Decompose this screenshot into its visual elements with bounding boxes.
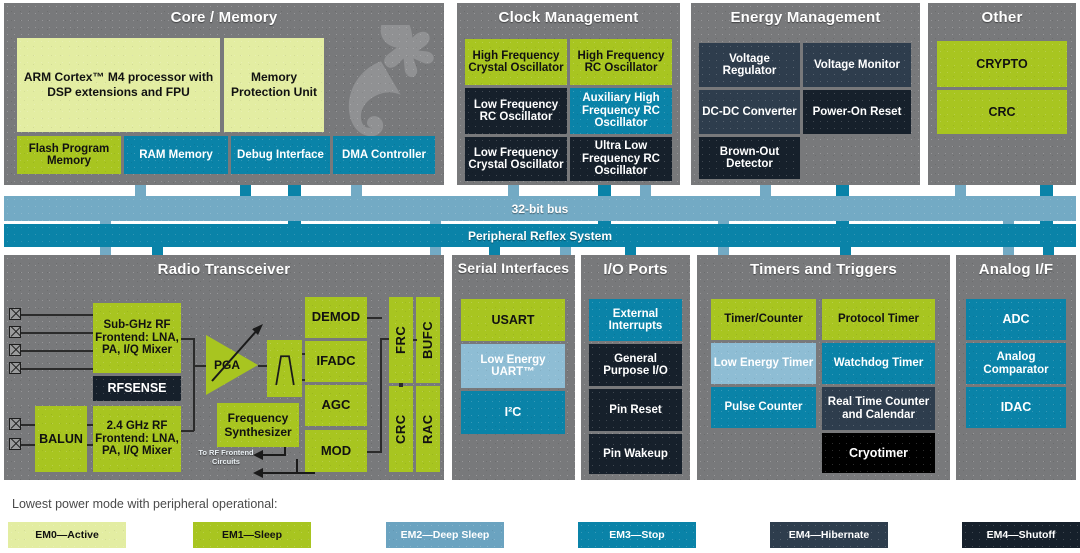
panel-io-ports: I/O Ports External Interrupts General Pu…: [581, 255, 690, 480]
legend-item-em4-shutoff[interactable]: EM4—Shutoff: [962, 522, 1080, 548]
block-ulfrco[interactable]: Ultra Low Frequency RC Oscillator: [570, 137, 672, 181]
bus-peripheral-reflex-system: Peripheral Reflex System: [4, 224, 1076, 247]
panel-analog-if: Analog I/F ADC Analog Comparator IDAC: [956, 255, 1076, 480]
block-demod[interactable]: DEMOD: [305, 297, 367, 338]
block-debug-interface[interactable]: Debug Interface: [231, 136, 330, 174]
panel-clock-management: Clock Management High Frequency Crystal …: [457, 3, 680, 185]
block-idac[interactable]: IDAC: [966, 387, 1066, 428]
block-hfxo[interactable]: High Frequency Crystal Oscillator: [465, 39, 567, 85]
connector-line: [367, 317, 382, 319]
panel-title-io-ports: I/O Ports: [581, 261, 690, 278]
block-hfrco[interactable]: High Frequency RC Oscillator: [570, 39, 672, 85]
block-usart[interactable]: USART: [461, 299, 565, 341]
panel-title-energy-management: Energy Management: [691, 9, 920, 26]
block-low-energy-uart[interactable]: Low Energy UART™: [461, 344, 565, 388]
block-sub-ghz-rf-frontend[interactable]: Sub-GHz RF Frontend: LNA, PA, I/Q Mixer: [93, 303, 181, 373]
block-brown-out-detector[interactable]: Brown-Out Detector: [699, 137, 800, 179]
connector-line: [21, 368, 93, 370]
panel-core-memory: Core / Memory ARM Cortex™ M4 processor w…: [4, 3, 444, 185]
block-cryotimer[interactable]: Cryotimer: [822, 433, 935, 473]
block-analog-comparator[interactable]: Analog Comparator: [966, 343, 1066, 384]
panel-title-analog-if: Analog I/F: [956, 261, 1076, 278]
block-memory-protection-unit[interactable]: Memory Protection Unit: [224, 38, 324, 132]
block-ram-memory[interactable]: RAM Memory: [124, 136, 228, 174]
block-voltage-monitor[interactable]: Voltage Monitor: [803, 43, 911, 87]
block-ifadc[interactable]: IFADC: [305, 341, 367, 382]
connector-line: [21, 332, 93, 334]
bus-prs-label: Peripheral Reflex System: [468, 229, 612, 243]
panel-title-core-memory: Core / Memory: [4, 9, 444, 26]
connector-line: [21, 350, 93, 352]
block-frc[interactable]: FRC: [389, 297, 413, 383]
block-timer-counter[interactable]: Timer/Counter: [711, 299, 816, 340]
legend-item-em1[interactable]: EM1—Sleep: [193, 522, 311, 548]
connector-line: [380, 338, 382, 453]
block-agc[interactable]: AGC: [305, 385, 367, 426]
connector-line: [399, 383, 403, 387]
connector-line: [21, 444, 35, 446]
legend-item-em0[interactable]: EM0—Active: [8, 522, 126, 548]
block-mod[interactable]: MOD: [305, 430, 367, 472]
rf-pin-icon: [9, 308, 21, 320]
block-lfxo[interactable]: Low Frequency Crystal Oscillator: [465, 137, 567, 181]
block-flash-program-memory[interactable]: Flash Program Memory: [17, 136, 121, 174]
legend-item-em4-hibernate[interactable]: EM4—Hibernate: [770, 522, 888, 548]
block-pin-reset[interactable]: Pin Reset: [589, 389, 682, 431]
block-cpu[interactable]: ARM Cortex™ M4 processor with DSP extens…: [17, 38, 220, 132]
gecko-logo: [322, 25, 440, 137]
block-i2c[interactable]: I²C: [461, 391, 565, 434]
panel-energy-management: Energy Management Voltage Regulator Volt…: [691, 3, 920, 185]
rf-pin-icon: [9, 418, 21, 430]
block-balun[interactable]: BALUN: [35, 406, 87, 472]
block-power-on-reset[interactable]: Power-On Reset: [803, 90, 911, 134]
bus-32-bit-label: 32-bit bus: [512, 202, 569, 216]
block-bandpass-filter[interactable]: [267, 340, 302, 397]
block-general-purpose-io[interactable]: General Purpose I/O: [589, 344, 682, 386]
panel-title-other: Other: [928, 9, 1076, 26]
block-adc[interactable]: ADC: [966, 299, 1066, 340]
block-crc-other[interactable]: CRC: [937, 90, 1067, 134]
bandpass-filter-icon: [273, 350, 297, 388]
block-rfsense[interactable]: RFSENSE: [93, 376, 181, 401]
panel-other: Other CRYPTO CRC: [928, 3, 1076, 185]
panel-title-timers-and-triggers: Timers and Triggers: [697, 261, 950, 278]
block-external-interrupts[interactable]: External Interrupts: [589, 299, 682, 341]
panel-serial-interfaces: Serial Interfaces USART Low Energy UART™…: [452, 255, 575, 480]
panel-title-serial-interfaces: Serial Interfaces: [452, 261, 575, 276]
panel-title-clock-management: Clock Management: [457, 9, 680, 26]
rf-frontend-note: To RF Frontend Circuits: [197, 449, 255, 466]
pga-gain-arrow-icon: [209, 323, 267, 385]
block-protocol-timer[interactable]: Protocol Timer: [822, 299, 935, 340]
legend-caption: Lowest power mode with peripheral operat…: [12, 497, 277, 511]
connector-line: [21, 424, 35, 426]
block-low-energy-timer[interactable]: Low Energy Timer: [711, 343, 816, 384]
connector-line: [193, 338, 195, 431]
rf-pin-icon: [9, 344, 21, 356]
rf-pin-icon: [9, 326, 21, 338]
block-frequency-synthesizer[interactable]: Frequency Synthesizer: [217, 403, 299, 447]
panel-title-radio-transceiver: Radio Transceiver: [4, 261, 444, 278]
block-rtcc[interactable]: Real Time Counter and Calendar: [822, 387, 935, 430]
block-watchdog-timer[interactable]: Watchdog Timer: [822, 343, 935, 384]
block-dcdc-converter[interactable]: DC-DC Converter: [699, 90, 800, 134]
connector-line: [21, 314, 93, 316]
block-crypto[interactable]: CRYPTO: [937, 41, 1067, 87]
block-pin-wakeup[interactable]: Pin Wakeup: [589, 434, 682, 474]
block-dma-controller[interactable]: DMA Controller: [333, 136, 435, 174]
panel-timers-and-triggers: Timers and Triggers Timer/Counter Protoc…: [697, 255, 950, 480]
rf-pin-icon: [9, 362, 21, 374]
legend-item-em2[interactable]: EM2—Deep Sleep: [386, 522, 504, 548]
block-lfrco[interactable]: Low Frequency RC Oscillator: [465, 88, 567, 134]
block-2-4-ghz-rf-frontend[interactable]: 2.4 GHz RF Frontend: LNA, PA, I/Q Mixer: [93, 406, 181, 472]
panel-radio-transceiver: Radio Transceiver Sub-GHz RF Frontend: L…: [4, 255, 444, 480]
block-bufc[interactable]: BUFC: [416, 297, 440, 383]
connector-line: [413, 339, 417, 341]
block-voltage-regulator[interactable]: Voltage Regulator: [699, 43, 800, 87]
block-rac[interactable]: RAC: [416, 386, 440, 472]
rf-pin-icon: [9, 438, 21, 450]
block-crc-radio[interactable]: CRC: [389, 386, 413, 472]
block-auxhfrco[interactable]: Auxiliary High Frequency RC Oscillator: [570, 88, 672, 134]
block-pulse-counter[interactable]: Pulse Counter: [711, 387, 816, 428]
bus-32-bit: 32-bit bus: [4, 196, 1076, 221]
legend-item-em3[interactable]: EM3—Stop: [578, 522, 696, 548]
